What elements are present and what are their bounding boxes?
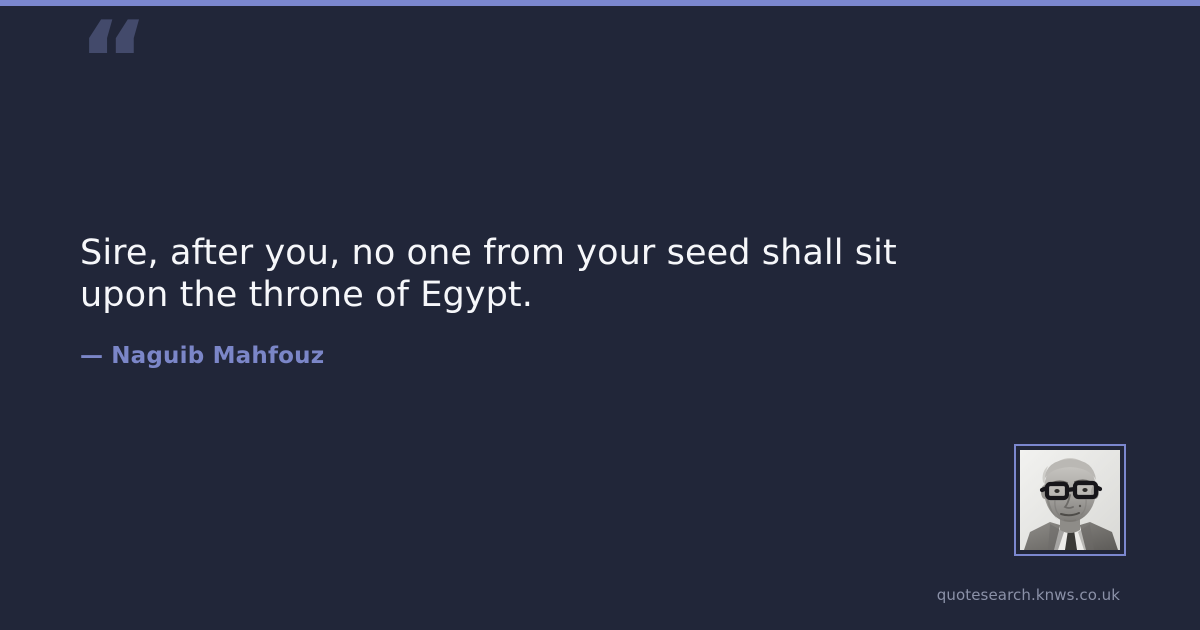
- attribution-dash: —: [80, 342, 103, 370]
- site-url: quotesearch.knws.co.uk: [937, 586, 1120, 604]
- author-portrait: [1020, 450, 1120, 550]
- quote-body: Sire, after you, no one from your seed s…: [80, 232, 980, 370]
- open-quote-icon: “: [78, 8, 147, 116]
- quote-card: “ Sire, after you, no one from your seed…: [0, 0, 1200, 630]
- quote-attribution: —Naguib Mahfouz: [80, 342, 980, 370]
- author-name: Naguib Mahfouz: [111, 343, 324, 369]
- quote-text: Sire, after you, no one from your seed s…: [80, 232, 980, 316]
- top-accent-bar: [0, 0, 1200, 6]
- portrait-photo: [1020, 450, 1120, 550]
